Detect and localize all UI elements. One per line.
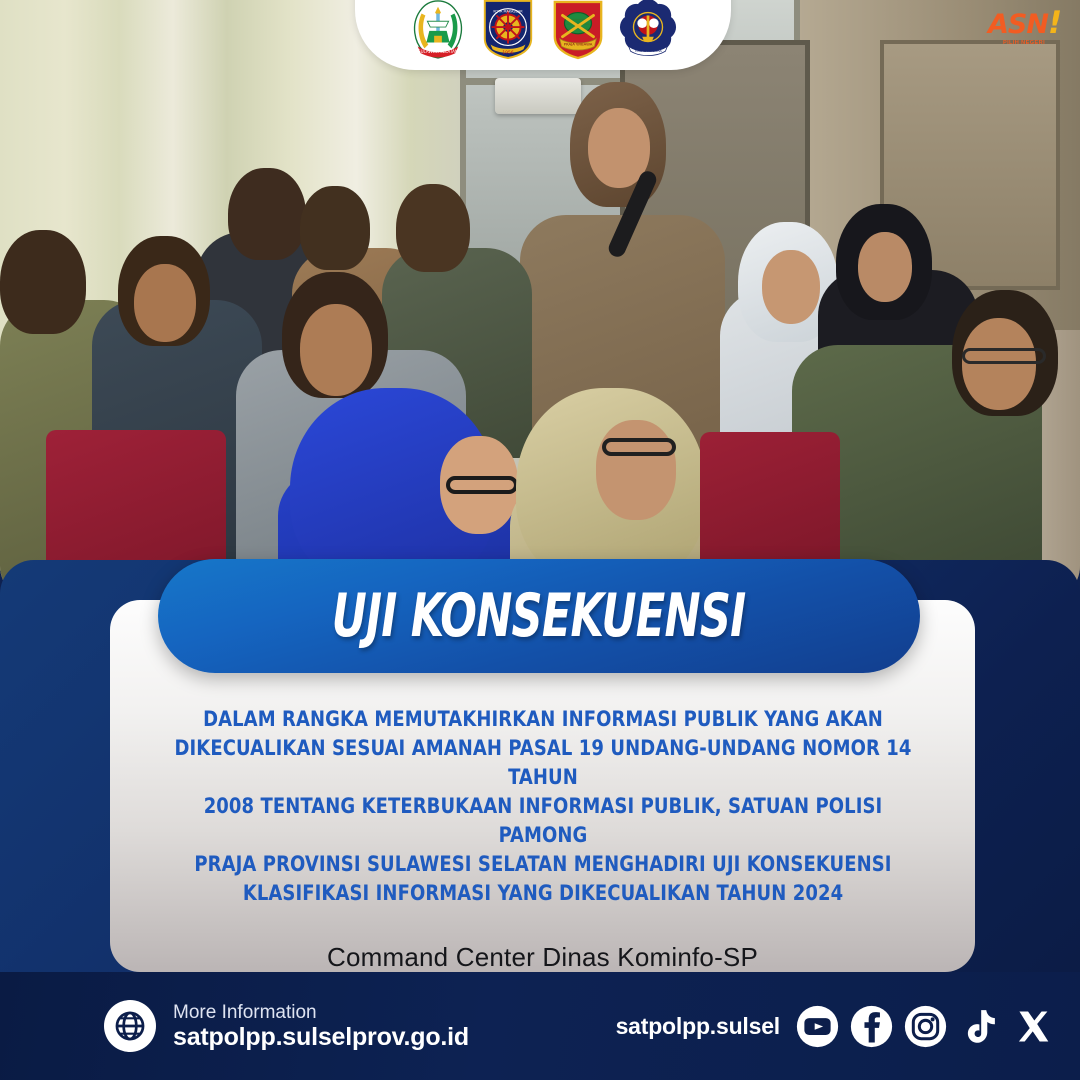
photo-audience bbox=[0, 0, 1080, 600]
emblem-satpol-pp: PRAJA WIBAWA bbox=[549, 0, 607, 60]
announcement-line: DALAM RANGKA MEMUTAKHIRKAN INFORMASI PUB… bbox=[171, 705, 915, 734]
photo-person-face bbox=[962, 318, 1036, 410]
instagram-icon[interactable] bbox=[903, 1004, 948, 1049]
social-block: satpolpp.sulsel bbox=[616, 1004, 1056, 1049]
photo-person-head bbox=[228, 168, 306, 260]
photo-person-head bbox=[396, 184, 470, 272]
asn-logo-exclamation: ! bbox=[1048, 5, 1061, 41]
asn-logo-text: ASN bbox=[988, 9, 1048, 40]
x-twitter-icon[interactable] bbox=[1011, 1004, 1056, 1049]
emblem-korpri: TUGAS NEGARA bbox=[619, 0, 677, 60]
globe-icon bbox=[104, 1000, 156, 1052]
svg-text:PRAJA WIBAWA: PRAJA WIBAWA bbox=[564, 41, 593, 46]
emblem-banner: SULAWESI SELATAN KOTA MAKASSAR 1956 bbox=[355, 0, 731, 70]
svg-text:1956: 1956 bbox=[502, 50, 513, 56]
announcement-line: 2008 TENTANG KETERBUKAAN INFORMASI PUBLI… bbox=[171, 792, 915, 850]
photo-person-face bbox=[858, 232, 912, 302]
photo-person-face bbox=[300, 304, 372, 396]
announcement-line: DIKECUALIKAN SESUAI AMANAH PASAL 19 UNDA… bbox=[171, 734, 915, 792]
photo-person-head bbox=[300, 186, 370, 270]
page-title: UJI KONSEKUENSI bbox=[332, 581, 746, 651]
more-information-label: More Information bbox=[173, 1002, 469, 1023]
svg-text:SULAWESI SELATAN: SULAWESI SELATAN bbox=[418, 49, 458, 54]
svg-text:TUGAS NEGARA: TUGAS NEGARA bbox=[633, 49, 662, 53]
website-url[interactable]: satpolpp.sulselprov.go.id bbox=[173, 1023, 469, 1051]
asn-logo: ASN! PILIH NEGERI bbox=[988, 8, 1060, 60]
asn-logo-subtitle: PILIH NEGERI bbox=[988, 41, 1060, 47]
tiktok-icon[interactable] bbox=[957, 1004, 1002, 1049]
youtube-icon[interactable] bbox=[795, 1004, 840, 1049]
footer-bar: More Information satpolpp.sulselprov.go.… bbox=[0, 972, 1080, 1080]
photo-person-eyeglasses bbox=[446, 476, 518, 494]
announcement-line: KLASIFIKASI INFORMASI YANG DIKECUALIKAN … bbox=[171, 879, 915, 908]
facebook-icon[interactable] bbox=[849, 1004, 894, 1049]
svg-text:KOTA MAKASSAR: KOTA MAKASSAR bbox=[493, 10, 523, 14]
website-block[interactable]: More Information satpolpp.sulselprov.go.… bbox=[104, 1000, 469, 1052]
emblem-kota-makassar: KOTA MAKASSAR 1956 bbox=[479, 0, 537, 60]
announcement-body: DALAM RANGKA MEMUTAKHIRKAN INFORMASI PUB… bbox=[143, 705, 943, 908]
photo-person-face bbox=[596, 420, 676, 520]
photo-person-head bbox=[0, 230, 86, 334]
photo-person-eyeglasses bbox=[962, 348, 1046, 364]
emblem-provinsi-sulawesi-selatan: SULAWESI SELATAN bbox=[409, 0, 467, 60]
photo-person-face bbox=[762, 250, 820, 324]
event-photo bbox=[0, 0, 1080, 600]
title-banner: UJI KONSEKUENSI bbox=[158, 559, 920, 673]
announcement-line: PRAJA PROVINSI SULAWESI SELATAN MENGHADI… bbox=[171, 850, 915, 879]
photo-person-eyeglasses bbox=[602, 438, 676, 456]
social-handle: satpolpp.sulsel bbox=[616, 1013, 780, 1040]
poster-root: SULAWESI SELATAN KOTA MAKASSAR 1956 bbox=[0, 0, 1080, 1080]
photo-person-face bbox=[134, 264, 196, 342]
